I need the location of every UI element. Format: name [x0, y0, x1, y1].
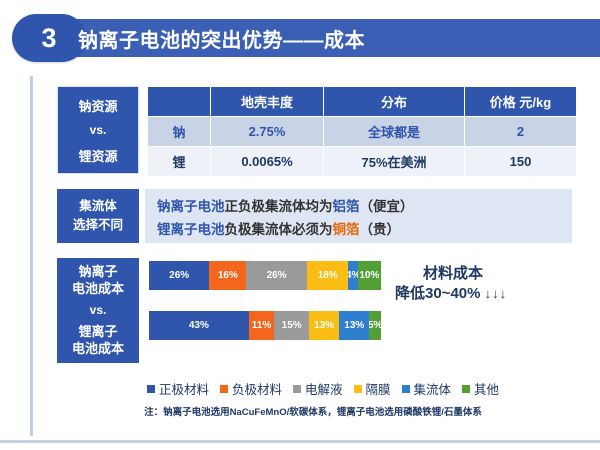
cost-label-line3: 锂离子: [72, 324, 124, 340]
cost-label-sodium: 钠离子 电池成本: [72, 264, 124, 297]
legend-label: 集流体: [414, 379, 452, 398]
cost-label-vs: vs.: [90, 303, 107, 318]
collector-section: 集流体 选择不同 钠离子电池正负极集流体均为铝箔（便宜） 锂离子电池负极集流体必…: [57, 189, 572, 243]
collector-line2-part1: 锂离子电池: [157, 222, 225, 237]
bar-segment: 16%: [209, 261, 246, 290]
bar-segment: 5%: [369, 311, 381, 340]
resources-label-vs: vs.: [90, 123, 107, 137]
bar-segment: 26%: [149, 261, 209, 290]
table-row: 钠 2.75% 全球都是 2: [148, 117, 577, 147]
collector-line-lithium: 锂离子电池负极集流体必须为铜箔（贵）: [157, 218, 400, 238]
bottom-divider: [0, 440, 600, 443]
cost-reduction-annotation: 材料成本 降低30~40% ↓↓↓: [395, 264, 570, 305]
legend-label: 负极材料: [232, 379, 282, 398]
annotation-line2-text: 降低30~40%: [395, 285, 480, 302]
collector-row-label: 集流体 选择不同: [57, 189, 139, 243]
legend-item: 电解液: [293, 379, 343, 398]
legend-item: 正极材料: [147, 379, 209, 398]
legend-swatch-icon: [220, 385, 228, 393]
resources-table: 地壳丰度 分布 价格 元/kg 钠 2.75% 全球都是 2 锂 0.0065%…: [147, 86, 577, 177]
legend-item: 其他: [462, 379, 499, 398]
cost-label-lithium: 锂离子 电池成本: [72, 324, 124, 357]
legend-item: 负极材料: [220, 379, 282, 398]
collector-body: 钠离子电池正负极集流体均为铝箔（便宜） 锂离子电池负极集流体必须为铜箔（贵）: [145, 189, 572, 243]
legend-swatch-icon: [147, 385, 155, 393]
cost-bar-chart: 26%16%26%18%4%10% 43%11%15%13%13%5%: [149, 261, 381, 340]
legend-item: 集流体: [402, 379, 452, 398]
resources-label-top: 钠资源: [78, 96, 117, 115]
annotation-line1: 材料成本: [395, 264, 570, 284]
legend-label: 其他: [474, 379, 499, 398]
cost-label-line2: 电池成本: [72, 281, 124, 297]
bar-segment: 43%: [149, 311, 249, 340]
table-row: 锂 0.0065% 75%在美洲 150: [148, 147, 577, 177]
cell-price-sodium: 2: [465, 117, 577, 147]
collector-label-top: 集流体: [79, 197, 117, 216]
stacked-bar-sodium: 26%16%26%18%4%10%: [149, 261, 381, 290]
cell-name-sodium: 钠: [148, 117, 211, 147]
section-number: 3: [41, 25, 56, 52]
column-header-name: [148, 87, 211, 117]
cost-label-line4: 电池成本: [72, 341, 124, 357]
column-header-distribution: 分布: [324, 87, 465, 117]
stacked-bar-lithium: 43%11%15%13%13%5%: [149, 311, 381, 340]
resources-row-label: 钠资源 vs. 锂资源: [57, 86, 139, 174]
column-header-price: 价格 元/kg: [465, 87, 577, 117]
chart-legend: 正极材料负极材料电解液隔膜集流体其他: [73, 379, 573, 398]
footnote: 注：钠离子电池选用NaCuFeMnO/软碳体系，锂离子电池选用磷酸铁锂/石墨体系: [53, 404, 573, 418]
content-panel: 钠资源 vs. 锂资源 地壳丰度 分布 价格 元/kg 钠 2.75% 全球都是…: [30, 76, 575, 436]
collector-line1-part4: （便宜）: [360, 199, 414, 214]
page-title: 钠离子电池的突出优势——成本: [78, 19, 365, 57]
bar-segment: 13%: [339, 311, 369, 340]
legend-swatch-icon: [293, 385, 301, 393]
legend-label: 正极材料: [159, 379, 209, 398]
cell-name-lithium: 锂: [148, 147, 211, 177]
bar-segment: 10%: [358, 261, 381, 290]
down-arrow-icon: ↓↓↓: [485, 286, 508, 301]
cell-price-lithium: 150: [465, 147, 577, 177]
section-number-badge: 3: [12, 14, 86, 62]
collector-line2-part3: 铜箔: [333, 222, 360, 237]
collector-line1-part2: 正负极集流体均为: [225, 199, 333, 214]
legend-swatch-icon: [462, 385, 470, 393]
legend-item: 隔膜: [354, 379, 391, 398]
cell-distribution-sodium: 全球都是: [324, 117, 465, 147]
legend-swatch-icon: [354, 385, 362, 393]
cell-abundance-sodium: 2.75%: [211, 117, 324, 147]
legend-swatch-icon: [402, 385, 410, 393]
slide-root: 3 钠离子电池的突出优势——成本 钠资源 vs. 锂资源 地壳丰度 分布 价格 …: [0, 0, 600, 450]
column-header-abundance: 地壳丰度: [211, 87, 324, 117]
collector-line1-part1: 钠离子电池: [157, 199, 225, 214]
bar-segment: 15%: [274, 311, 309, 340]
cost-row-label: 钠离子 电池成本 vs. 锂离子 电池成本: [57, 258, 139, 363]
legend-label: 隔膜: [366, 379, 391, 398]
collector-label-bottom: 选择不同: [73, 216, 123, 235]
cost-label-line1: 钠离子: [72, 264, 124, 280]
collector-line-sodium: 钠离子电池正负极集流体均为铝箔（便宜）: [157, 195, 414, 215]
collector-line2-part4: （贵）: [360, 222, 401, 237]
annotation-line2: 降低30~40% ↓↓↓: [395, 284, 570, 304]
bar-segment: 13%: [309, 311, 339, 340]
table-header-row: 地壳丰度 分布 价格 元/kg: [148, 87, 577, 117]
resources-section: 钠资源 vs. 锂资源 地壳丰度 分布 价格 元/kg 钠 2.75% 全球都是…: [57, 86, 572, 174]
resources-label-bottom: 锂资源: [78, 146, 117, 165]
collector-line2-part2: 负极集流体必须为: [225, 222, 333, 237]
bar-segment: 4%: [348, 261, 357, 290]
cost-section: 钠离子 电池成本 vs. 锂离子 电池成本 26%16%26%18%4%10% …: [57, 258, 572, 363]
legend-label: 电解液: [305, 379, 343, 398]
cell-distribution-lithium: 75%在美洲: [324, 147, 465, 177]
bar-segment: 18%: [307, 261, 349, 290]
collector-line1-part3: 铝箔: [333, 199, 360, 214]
slide-header: 3 钠离子电池的突出优势——成本: [0, 14, 600, 62]
bar-segment: 26%: [246, 261, 306, 290]
bar-segment: 11%: [249, 311, 275, 340]
cell-abundance-lithium: 0.0065%: [211, 147, 324, 177]
